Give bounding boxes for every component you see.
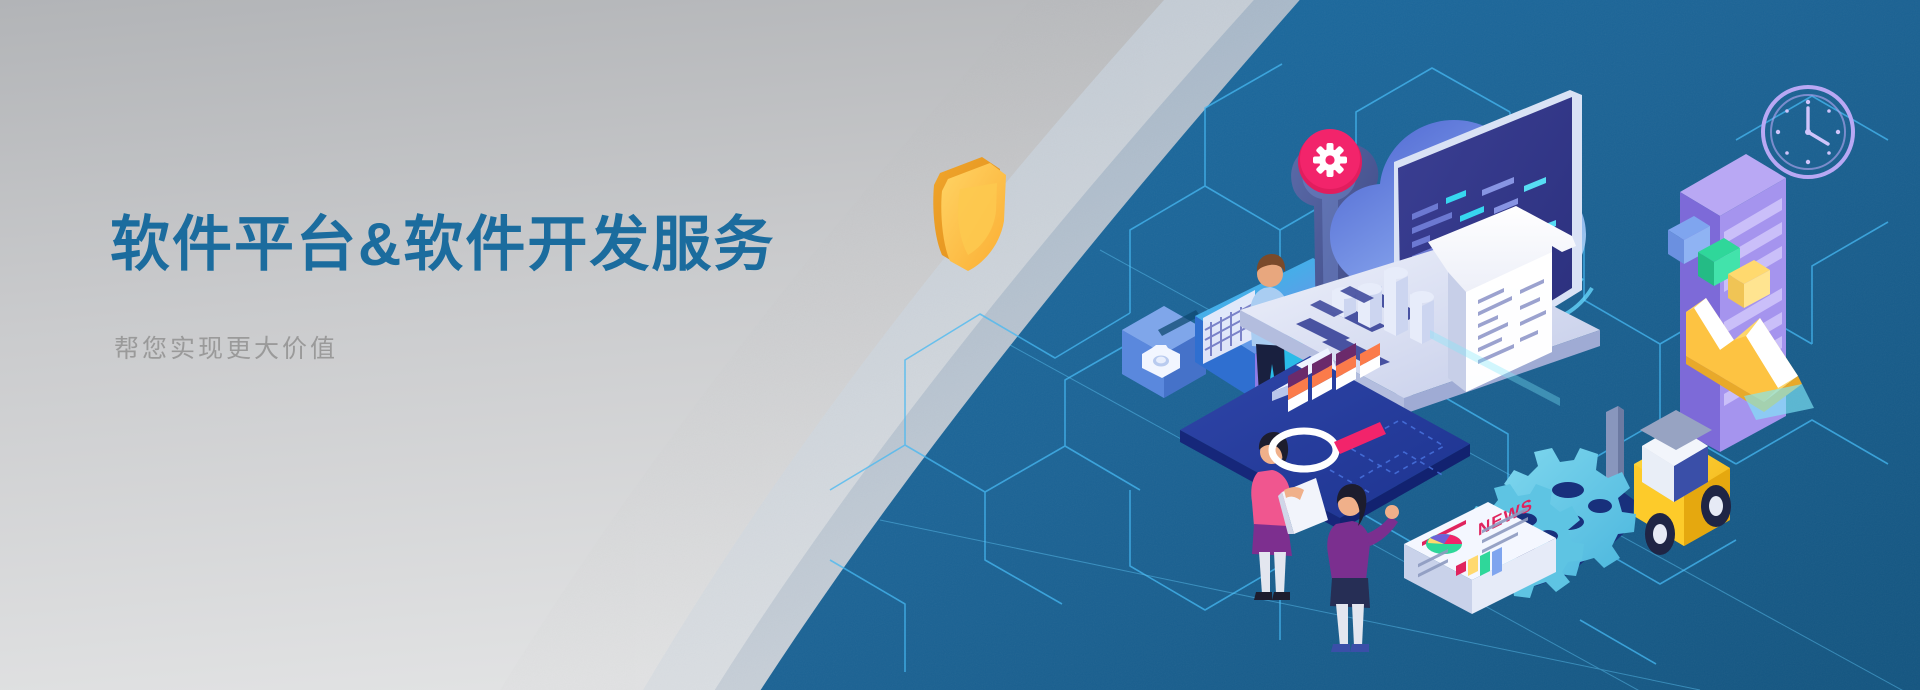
clock-icon [1763, 87, 1853, 177]
page-subtitle: 帮您实现更大价值 [114, 329, 870, 365]
banner-text-block: 软件平台&软件开发服务 帮您实现更大价值 [110, 210, 870, 365]
page-title: 软件平台&软件开发服务 [110, 210, 870, 281]
hero-banner: NEWS [0, 0, 1920, 690]
